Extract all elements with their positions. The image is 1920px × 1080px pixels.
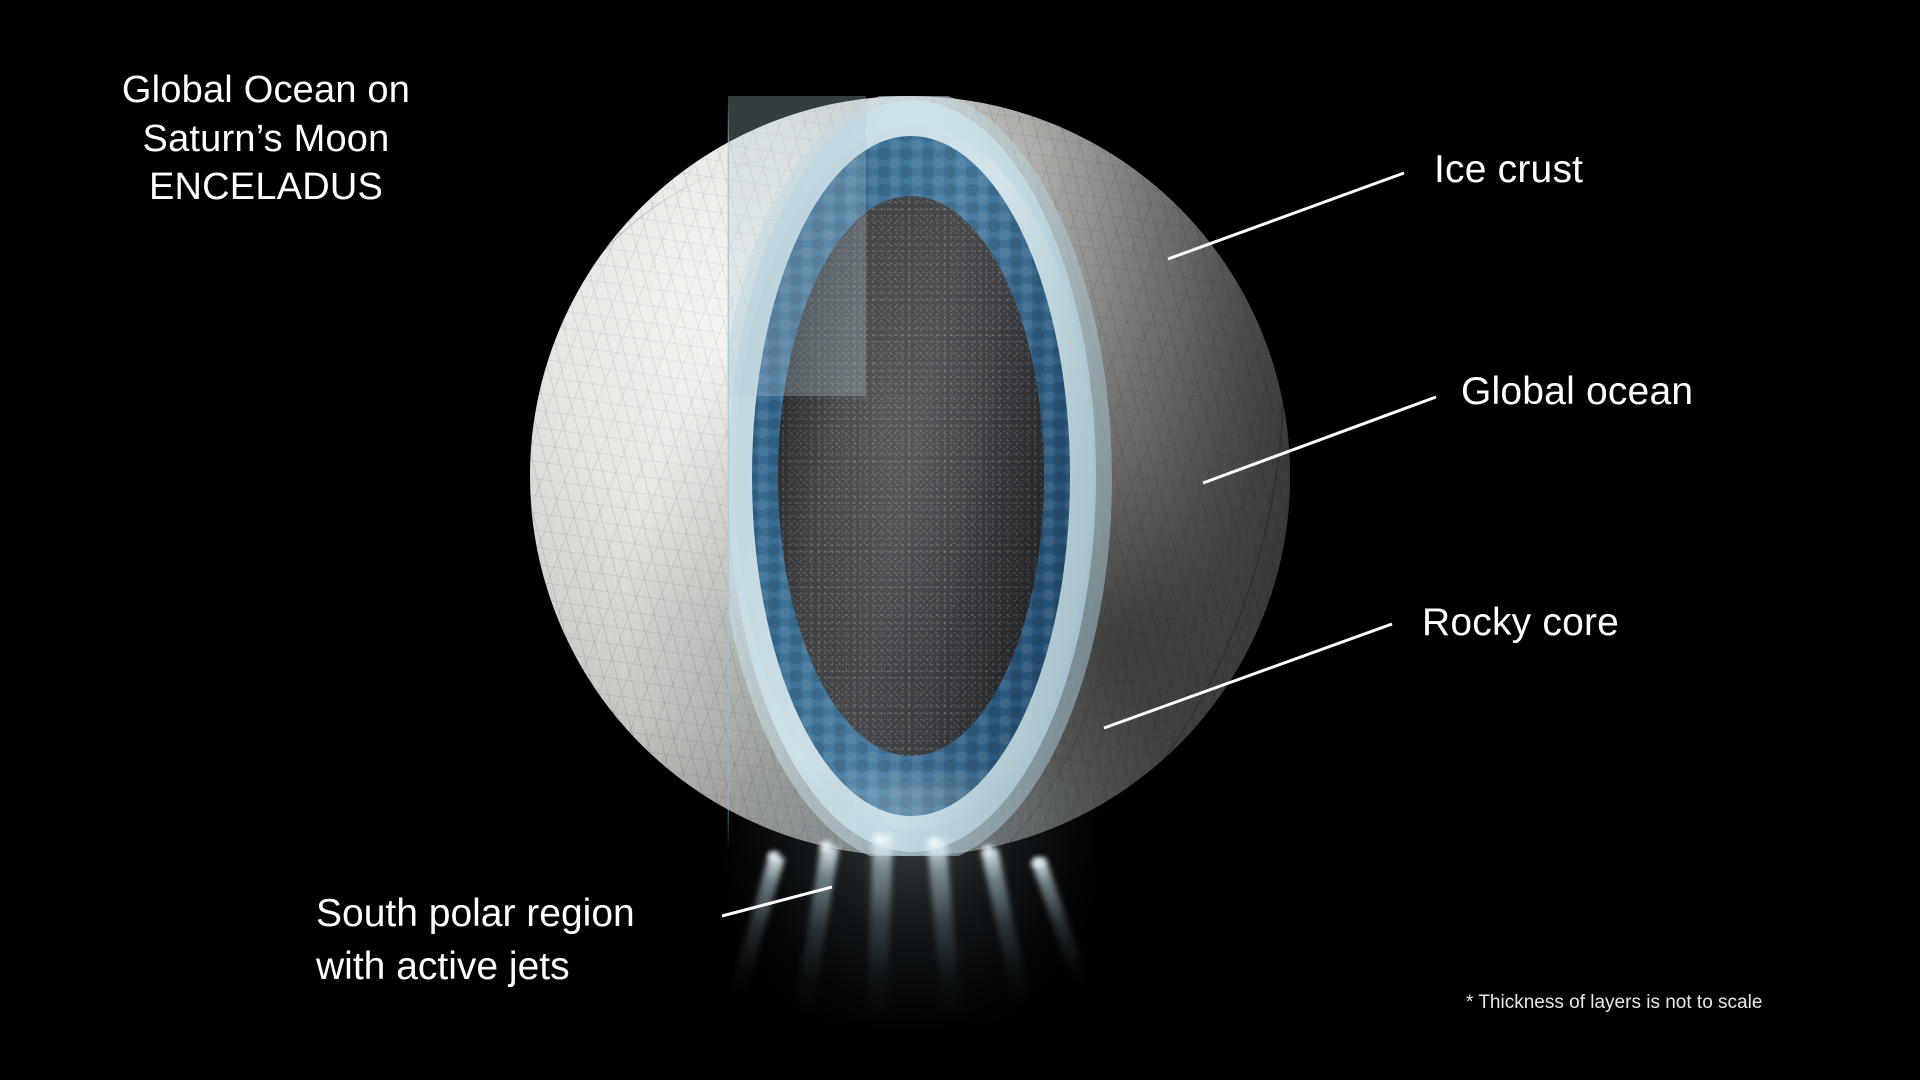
title-line-2: Saturn’s Moon bbox=[56, 115, 476, 164]
title-line-3: ENCELADUS bbox=[56, 163, 476, 212]
jet-plume-halo bbox=[725, 776, 1095, 1026]
south-polar-jets bbox=[695, 772, 1125, 1080]
title-line-1: Global Ocean on bbox=[56, 66, 476, 115]
label-south-polar-line-2: with active jets bbox=[316, 941, 635, 994]
jet-source-3 bbox=[871, 834, 889, 846]
jet-source-6 bbox=[1029, 856, 1047, 868]
label-global-ocean: Global ocean bbox=[1461, 370, 1693, 414]
jet-source-5 bbox=[979, 844, 997, 856]
label-south-polar-line-1: South polar region bbox=[316, 888, 635, 941]
enceladus-infographic: Global Ocean on Saturn’s Moon ENCELADUS … bbox=[0, 0, 1920, 1080]
cut-plane-overlay bbox=[728, 96, 866, 396]
footnote-scale-disclaimer: * Thickness of layers is not to scale bbox=[1466, 992, 1762, 1014]
label-rocky-core: Rocky core bbox=[1422, 601, 1619, 645]
jet-source-1 bbox=[765, 850, 783, 862]
label-south-polar-region: South polar region with active jets bbox=[316, 888, 635, 993]
jet-source-4 bbox=[925, 836, 943, 848]
label-ice-crust: Ice crust bbox=[1434, 148, 1583, 192]
page-title: Global Ocean on Saturn’s Moon ENCELADUS bbox=[56, 66, 476, 212]
jet-source-2 bbox=[817, 840, 835, 852]
enceladus-cutaway-diagram bbox=[530, 96, 1290, 872]
